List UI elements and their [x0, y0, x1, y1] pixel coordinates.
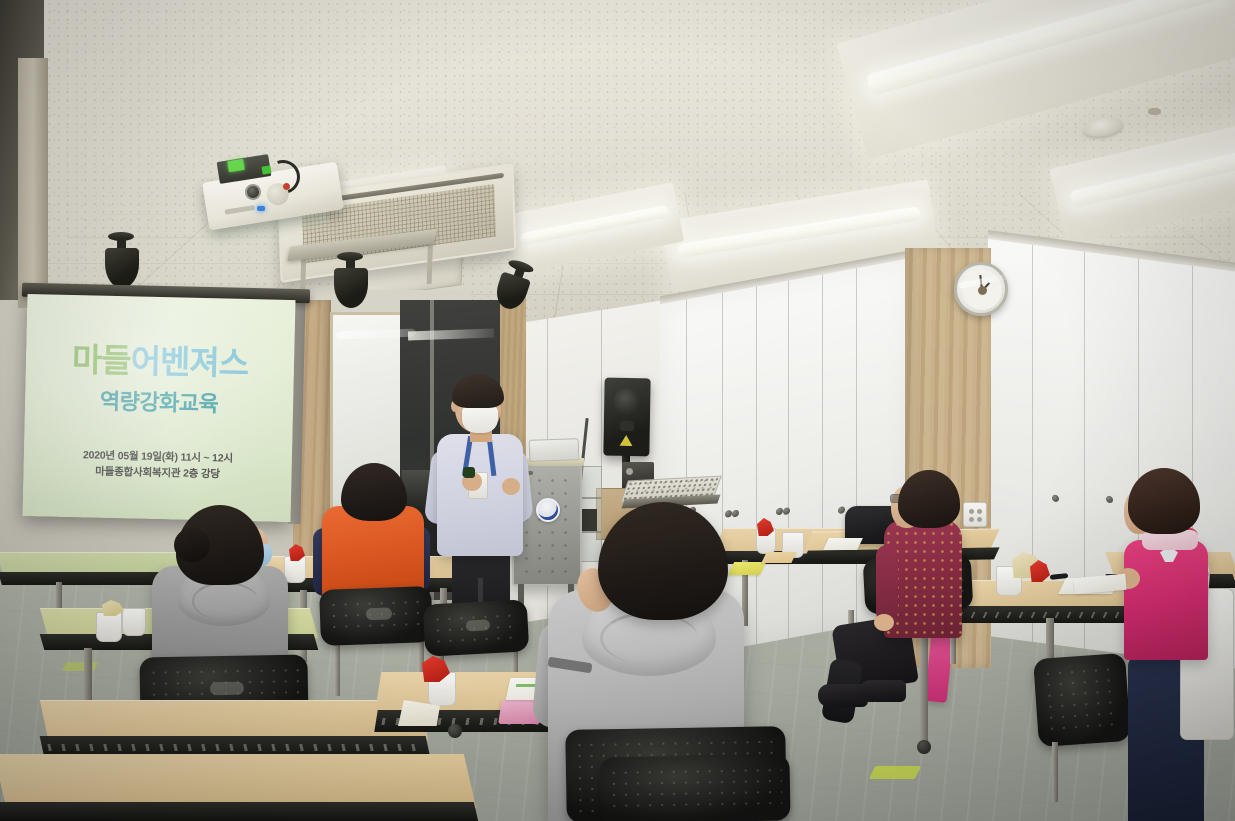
speaker-cone-icon: [613, 388, 641, 416]
attendee-hood-fold: [600, 612, 698, 664]
attendee-hair-bun: [174, 528, 210, 562]
attendee-hand: [874, 614, 894, 631]
pa-speaker: [603, 378, 650, 457]
presentation-clicker[interactable]: [463, 467, 475, 478]
paper-cup: [96, 612, 122, 642]
handout-papers: [823, 538, 863, 550]
laptop[interactable]: [529, 438, 580, 462]
wall-outlet[interactable]: [963, 502, 987, 527]
cabinet-handle-icon[interactable]: [776, 507, 783, 515]
paper-cup: [122, 608, 146, 636]
stacking-chair[interactable]: [1033, 653, 1131, 747]
table-caster: [917, 740, 931, 754]
speaker-badge-icon: [619, 435, 632, 446]
attendee-hair: [1128, 468, 1200, 534]
cabinet-handle-icon[interactable]: [1052, 494, 1059, 502]
left-wall-column: [18, 58, 48, 308]
attendee-arm: [876, 545, 898, 623]
cabinet-handle-icon[interactable]: [732, 509, 739, 517]
attendee-hood-fold: [192, 582, 258, 620]
floor-marker-tape: [869, 766, 921, 779]
yellow-paper: [728, 562, 766, 575]
cabinet-handle-icon[interactable]: [1106, 496, 1113, 504]
ceiling-sensor-icon: [1148, 108, 1161, 115]
table-leg: [920, 620, 928, 744]
stacking-chair[interactable]: [319, 586, 433, 646]
floor-marker-tape: [61, 662, 98, 671]
speaker-tweeter-icon: [620, 421, 634, 431]
lectern-logo-icon: [536, 498, 560, 522]
stacking-chair[interactable]: [599, 754, 790, 821]
cabinet-handle-icon[interactable]: [838, 506, 845, 514]
projection-screen: 마들어벤져스 역량강화교육 2020년 05월 19일(화) 11시 ~ 12시…: [23, 294, 296, 522]
projector-power-led-icon: [257, 206, 265, 211]
presenter-face-mask: [462, 406, 498, 433]
table-row: [40, 700, 429, 740]
chair-leg: [1052, 742, 1058, 802]
table-edge: [0, 802, 478, 821]
amp-knob-icon[interactable]: [626, 468, 633, 475]
table-row: [0, 754, 476, 808]
table-caster: [448, 724, 462, 738]
chair-leg: [334, 640, 340, 696]
handout-papers: [761, 552, 796, 563]
table-edge-perf: [47, 744, 422, 751]
wall-clock: [954, 262, 1008, 316]
classroom-photo: 마들어벤져스 역량강화교육 2020년 05월 19일(화) 11시 ~ 12시…: [0, 0, 1235, 821]
presenter-right-hand: [502, 478, 520, 495]
cabinet-handle-icon[interactable]: [725, 510, 732, 518]
stacking-chair[interactable]: [423, 599, 530, 656]
attendee-shoe: [860, 680, 906, 702]
